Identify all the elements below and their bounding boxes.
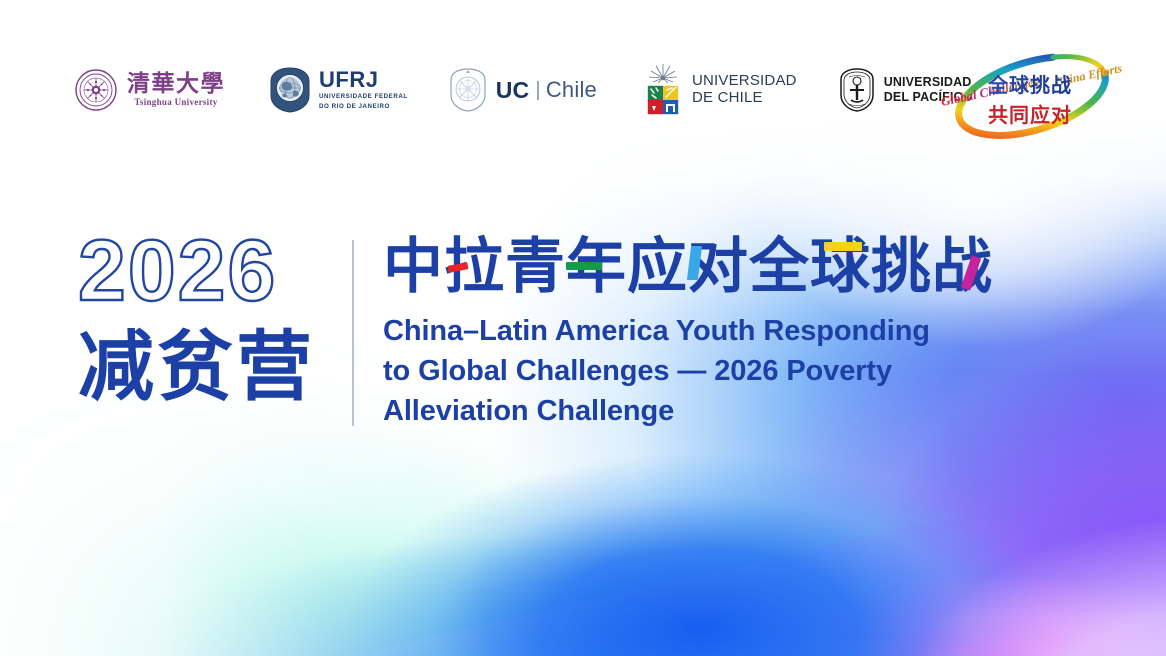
year-outline-2026: 2026 — [78, 228, 328, 314]
headline-cn-char-1-text: 拉 — [444, 233, 505, 300]
logo-uc-chile-text: UC Chile — [496, 77, 597, 104]
logo-ufrj-sub-line1: UNIVERSIDADE FEDERAL — [319, 93, 408, 101]
logo-uc-chile: UC Chile — [448, 64, 597, 116]
headline-cn-char-0: 中 — [383, 236, 444, 297]
tsinghua-seal-icon — [74, 68, 118, 112]
logo-udechile-line1: UNIVERSIDAD — [692, 73, 797, 90]
logo-udechile-line2: DE CHILE — [692, 90, 797, 107]
logo-ufrj-text: UFRJ UNIVERSIDADE FEDERAL DO RIO DE JANE… — [319, 69, 408, 112]
headline-cn-char-1: 拉 — [444, 236, 505, 297]
headline-cn-char-6: 全 — [749, 236, 810, 297]
accent-red-stroke — [448, 262, 469, 273]
logo-tsinghua: 清華大學 Tsinghua University — [74, 64, 225, 116]
accent-cyan-stroke — [687, 246, 702, 280]
logo-ufrj: UFRJ UNIVERSIDADE FEDERAL DO RIO DE JANE… — [269, 64, 408, 116]
title-divider — [352, 240, 354, 426]
headline-cn-char-9: 战 — [932, 236, 993, 297]
logo-uc-acronym: UC — [496, 77, 530, 104]
logo-tsinghua-en: Tsinghua University — [127, 98, 225, 107]
headline-cn-char-8: 挑 — [871, 236, 932, 297]
logo-uc-chile-word: Chile — [546, 77, 597, 103]
global-challenges-emblem: Global Challenges China Efforts 全球挑战 共同应… — [926, 44, 1138, 146]
subtitle-en: China–Latin America Youth Responding to … — [383, 311, 1043, 431]
accent-magenta-stroke — [961, 255, 982, 290]
accent-green-stroke — [566, 262, 602, 270]
headline-cn-char-5-text: 对 — [688, 233, 749, 300]
emblem-cn-bottom: 共同应对 — [988, 103, 1072, 127]
headline-cn-char-3-text: 年 — [566, 233, 627, 300]
udechile-crest-icon — [643, 62, 683, 118]
headline-cn: 中拉青年应对全球挑战 — [383, 236, 1043, 297]
poster-banner: 清華大學 Tsinghua University — [0, 0, 1166, 656]
headline-cn-char-3: 年 — [566, 236, 627, 297]
subtitle-en-line2: to Global Challenges — 2026 Poverty — [383, 351, 1043, 391]
logo-ufrj-sub-line2: DO RIO DE JANEIRO — [319, 103, 408, 111]
headline-cn-char-7: 球 — [810, 236, 871, 297]
headline-cn-char-7-text: 球 — [810, 233, 871, 300]
emblem-cn-top: 全球挑战 — [987, 73, 1072, 97]
subtitle-en-line3: Alleviation Challenge — [383, 391, 1043, 431]
partner-logo-bar: 清華大學 Tsinghua University — [74, 62, 973, 118]
logo-uc-divider — [537, 81, 539, 100]
headline-cn-char-4: 应 — [627, 236, 688, 297]
headline-cn-char-2: 青 — [505, 236, 566, 297]
logo-universidad-de-chile: UNIVERSIDAD DE CHILE — [643, 64, 797, 116]
camp-name-cn: 减贫营 — [78, 330, 328, 406]
ufrj-globe-icon — [269, 67, 311, 113]
accent-yellow-stroke — [824, 242, 862, 251]
headline-cn-char-5: 对 — [688, 236, 749, 297]
right-title-group: 中拉青年应对全球挑战 China–Latin America Youth Res… — [383, 236, 1043, 431]
subtitle-en-line1: China–Latin America Youth Responding — [383, 311, 1043, 351]
uc-chile-shield-icon — [448, 67, 488, 113]
logo-udechile-text: UNIVERSIDAD DE CHILE — [692, 73, 797, 107]
headline-cn-char-9-text: 战 — [932, 233, 993, 300]
logo-tsinghua-text: 清華大學 Tsinghua University — [127, 72, 225, 108]
pacifico-seal-icon — [839, 68, 875, 112]
logo-tsinghua-cn: 清華大學 — [127, 72, 225, 96]
logo-ufrj-acronym: UFRJ — [319, 69, 408, 91]
left-title-group: 2026 减贫营 — [78, 228, 328, 406]
